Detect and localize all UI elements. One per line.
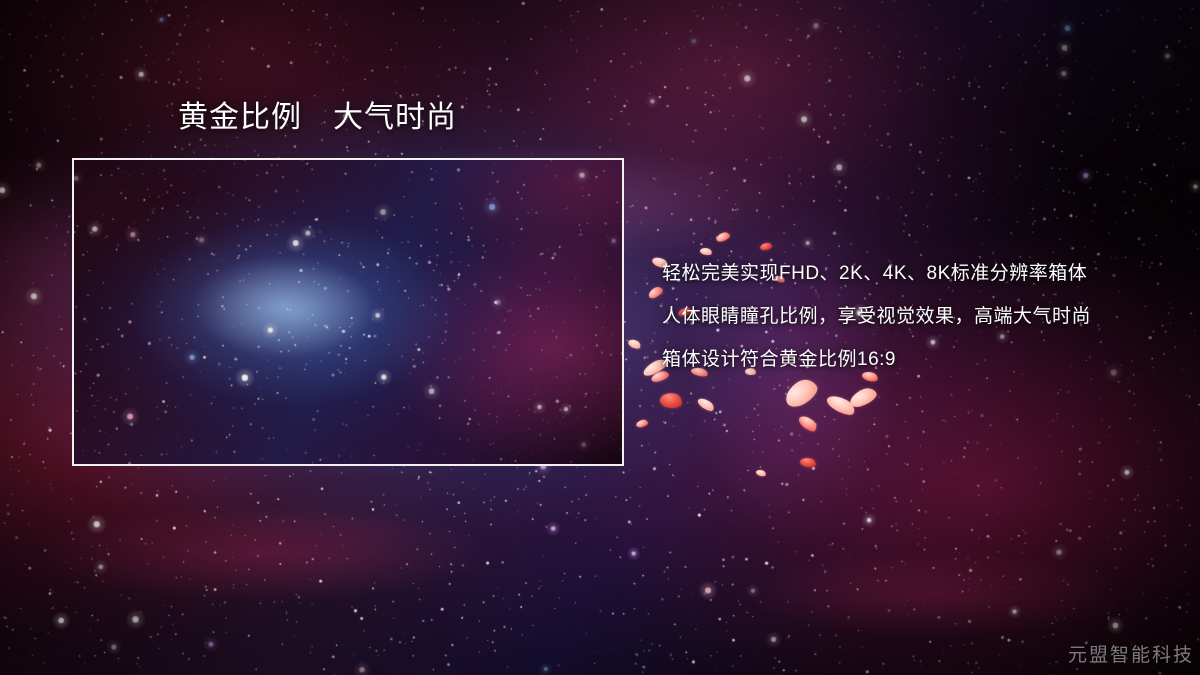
body-line-3: 箱体设计符合黄金比例16:9 (662, 338, 1162, 381)
body-line-2: 人体眼睛瞳孔比例，享受视觉效果，高端大气时尚 (662, 295, 1162, 338)
body-line-1: 轻松完美实现FHD、2K、4K、8K标准分辨率箱体 (662, 252, 1162, 295)
media-frame (72, 158, 624, 466)
page-title: 黄金比例 大气时尚 (178, 100, 457, 136)
watermark: 元盟智能科技 (1068, 640, 1194, 667)
body-copy: 轻松完美实现FHD、2K、4K、8K标准分辨率箱体 人体眼睛瞳孔比例，享受视觉效… (662, 252, 1162, 381)
presentation-slide: 黄金比例 大气时尚 轻松完美实现FHD、2K、4K、8K标准分辨率箱体 人体眼睛… (0, 0, 1200, 675)
media-frame-starfield (74, 160, 622, 464)
